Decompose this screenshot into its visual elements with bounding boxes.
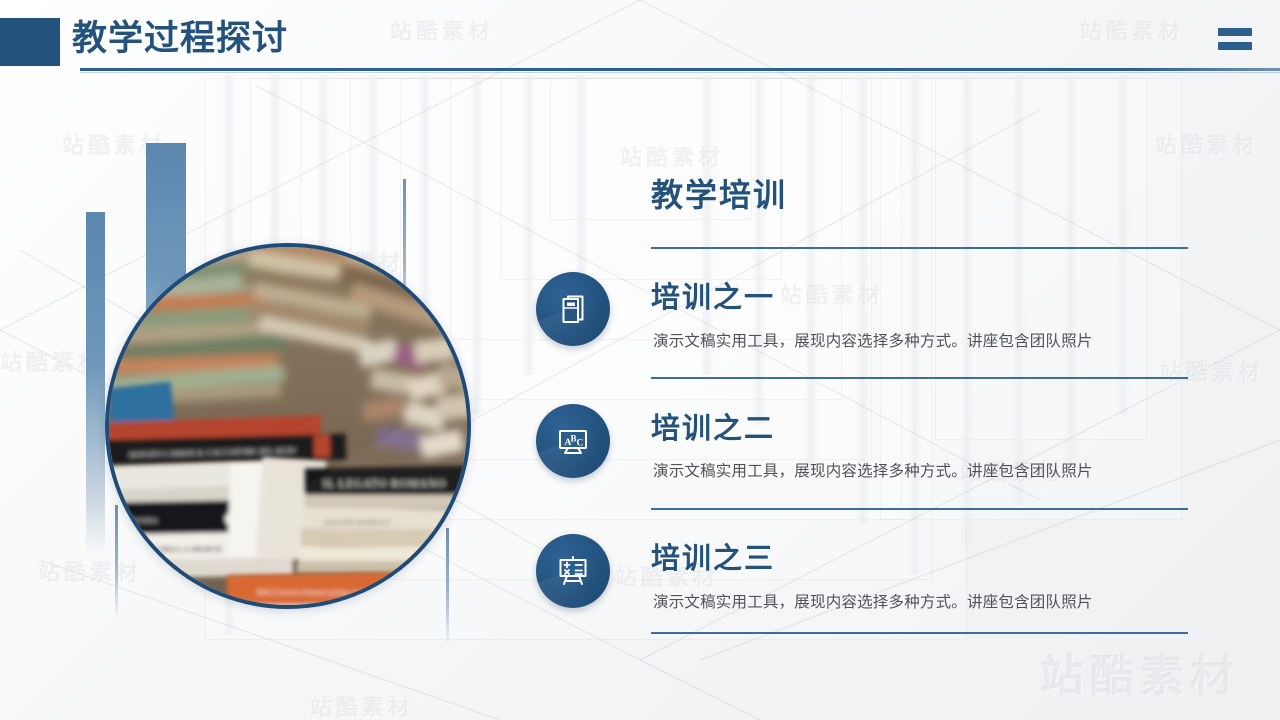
item-title: 培训之一 <box>651 274 775 316</box>
abc-blackboard-icon: A B C <box>555 423 591 459</box>
page-title: 教学过程探讨 <box>72 17 288 61</box>
watermark: 站酷素材 <box>780 278 884 310</box>
watermark: 站酷素材 <box>310 690 414 720</box>
svg-text:LA GRAMMA: LA GRAMMA <box>115 517 158 525</box>
item-description: 演示文稿实用工具，展现内容选择多种方式。讲座包含团队照片 <box>653 459 1093 481</box>
item-icon-books-stack[interactable] <box>536 272 610 346</box>
item-icon-math-easel[interactable] <box>536 534 610 608</box>
hamburger-menu-icon[interactable] <box>1218 28 1252 50</box>
item-description: 演示文稿实用工具，展现内容选择多种方式。讲座包含团队照片 <box>653 590 1093 612</box>
item-description: 演示文稿实用工具，展现内容选择多种方式。讲座包含团队照片 <box>653 329 1093 351</box>
header-accent-block <box>0 18 60 66</box>
header-divider <box>80 68 1280 71</box>
watermark: 站酷素材 <box>1160 355 1264 387</box>
slide: 站酷素材 站酷素材 站酷素材 站酷素材 站酷素材 站酷素材 站酷素材 站酷素材 … <box>0 0 1280 720</box>
books-stack-icon <box>555 291 591 327</box>
hamburger-bar <box>1218 28 1252 36</box>
divider-bottom <box>651 632 1188 634</box>
item-title: 培训之二 <box>651 405 775 447</box>
math-easel-board-icon <box>555 553 591 589</box>
divider-1 <box>651 377 1188 379</box>
watermark: 站酷素材 <box>620 140 724 172</box>
divider-top <box>651 247 1188 249</box>
divider-2 <box>651 508 1188 510</box>
watermark: 站酷素材 <box>1155 128 1259 160</box>
item-icon-abc-blackboard[interactable]: A B C <box>536 404 610 478</box>
svg-text:C: C <box>577 439 584 449</box>
hamburger-bar <box>1218 42 1252 50</box>
decorative-bar-short <box>86 212 105 552</box>
section-title: 教学培训 <box>651 170 787 216</box>
stacked-books-photo: DONATO CARRISI IL CACCIATORE DEL BUIO LA… <box>109 247 467 605</box>
header-divider-thin <box>80 72 1280 73</box>
header-bar: 教学过程探讨 <box>0 0 1280 78</box>
watermark-large: 站酷素材 <box>1040 640 1240 704</box>
books-photo-circle: DONATO CARRISI IL CACCIATORE DEL BUIO LA… <box>105 243 471 609</box>
item-title: 培训之三 <box>651 535 775 577</box>
